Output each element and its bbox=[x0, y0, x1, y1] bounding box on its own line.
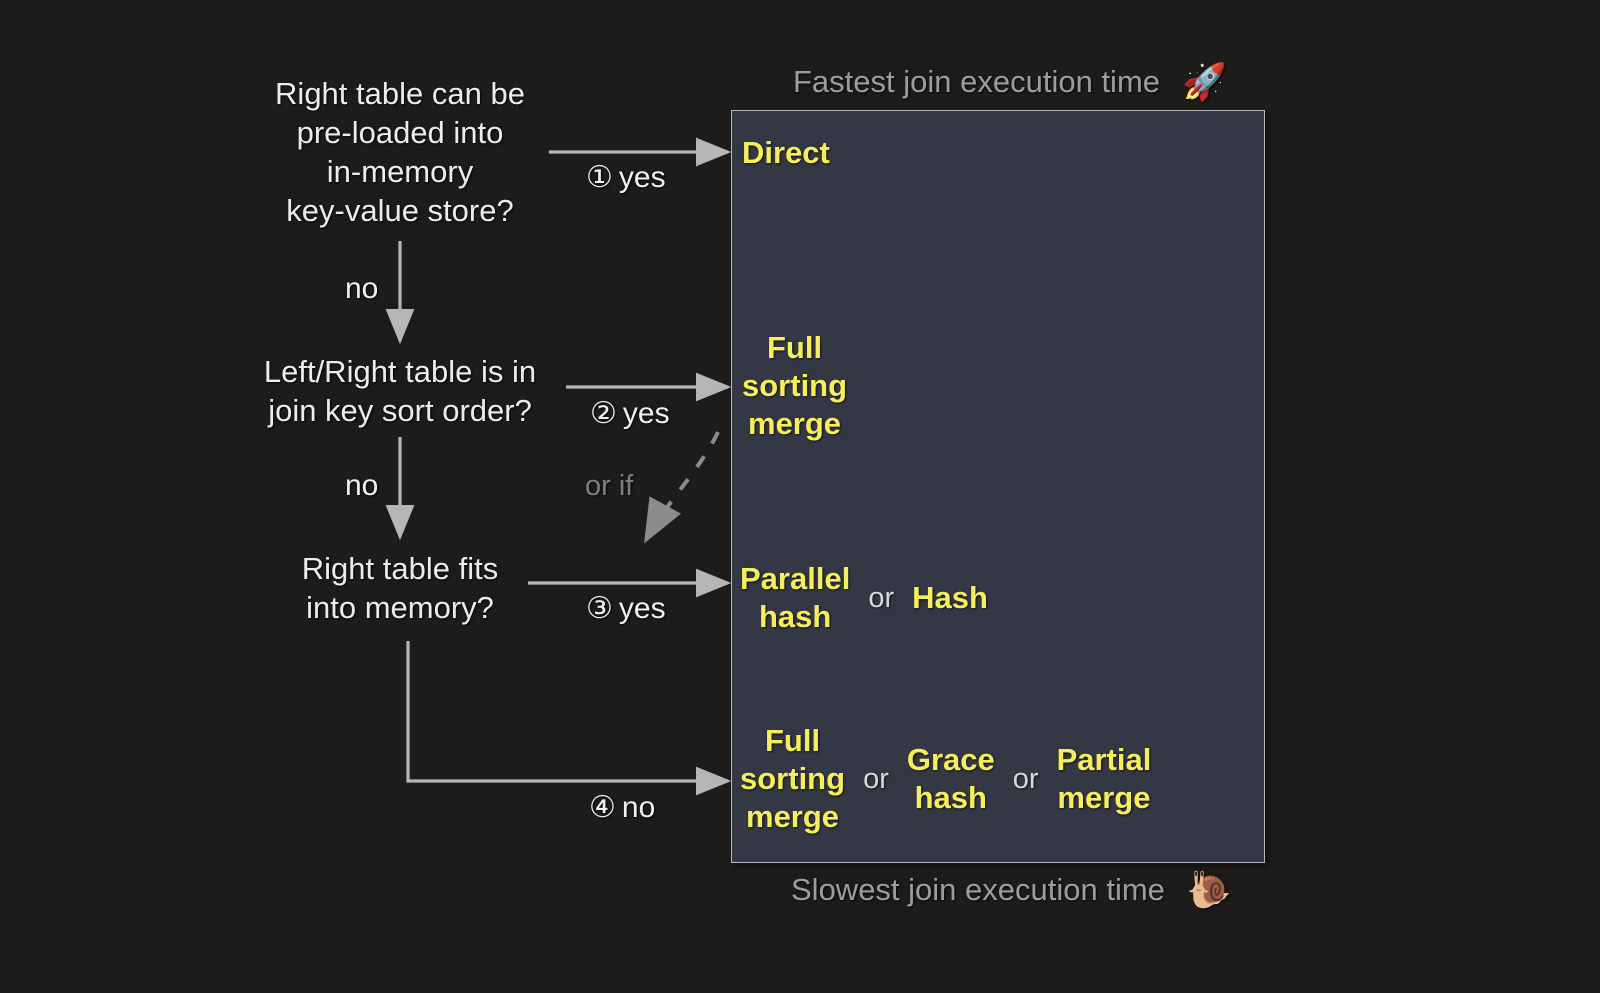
result-row-1: Direct bbox=[742, 134, 830, 172]
branch-label-3: ③yes bbox=[586, 592, 666, 626]
edge-label-no-1: no bbox=[345, 272, 378, 306]
caption-slowest: Slowest join execution time 🐌 bbox=[791, 872, 1232, 908]
branch-number-3: ③ bbox=[586, 592, 613, 626]
algorithm-direct: Direct bbox=[742, 134, 830, 172]
branch-label-2: ②yes bbox=[590, 397, 670, 431]
branch-answer-3: yes bbox=[619, 592, 666, 625]
caption-slowest-text: Slowest join execution time bbox=[791, 872, 1165, 908]
question-3: Right table fits into memory? bbox=[280, 549, 520, 627]
conjunction-or-row4-1: or bbox=[845, 763, 907, 796]
snail-emoji: 🐌 bbox=[1187, 872, 1232, 908]
algorithm-full-sorting-merge: Full sorting merge bbox=[742, 329, 847, 443]
or-if-label: or if bbox=[585, 470, 633, 503]
branch-number-4: ④ bbox=[589, 791, 616, 825]
rocket-emoji: 🚀 bbox=[1182, 64, 1227, 100]
arrow-or-if-dashed bbox=[646, 432, 718, 540]
branch-label-4: ④no bbox=[589, 791, 655, 825]
branch-number-2: ② bbox=[590, 397, 617, 431]
algorithm-grace-hash: Grace hash bbox=[907, 741, 995, 817]
caption-fastest-text: Fastest join execution time bbox=[793, 64, 1160, 100]
result-row-3: Parallel hash or Hash bbox=[740, 560, 988, 636]
branch-label-1: ①yes bbox=[586, 161, 666, 195]
result-row-2: Full sorting merge bbox=[742, 329, 847, 443]
branch-answer-1: yes bbox=[619, 161, 666, 194]
algorithm-parallel-hash: Parallel hash bbox=[740, 560, 850, 636]
conjunction-or-row3-1: or bbox=[850, 582, 912, 615]
edge-label-no-2: no bbox=[345, 469, 378, 503]
question-1: Right table can be pre-loaded into in-me… bbox=[255, 74, 545, 230]
join-algorithm-panel: Direct Full sorting merge Parallel hash … bbox=[731, 110, 1265, 863]
algorithm-partial-merge: Partial merge bbox=[1057, 741, 1152, 817]
question-2: Left/Right table is in join key sort ord… bbox=[240, 352, 560, 430]
algorithm-hash: Hash bbox=[912, 579, 988, 617]
algorithm-full-sorting-merge-2: Full sorting merge bbox=[740, 722, 845, 836]
conjunction-or-row4-2: or bbox=[995, 763, 1057, 796]
branch-number-1: ① bbox=[586, 161, 613, 195]
branch-answer-2: yes bbox=[623, 397, 670, 430]
result-row-4: Full sorting merge or Grace hash or Part… bbox=[740, 722, 1151, 836]
branch-answer-4: no bbox=[622, 791, 655, 824]
diagram-canvas: Fastest join execution time 🚀 Right tabl… bbox=[0, 0, 1600, 993]
caption-fastest: Fastest join execution time 🚀 bbox=[793, 64, 1227, 100]
arrow-branch-4 bbox=[408, 641, 728, 781]
